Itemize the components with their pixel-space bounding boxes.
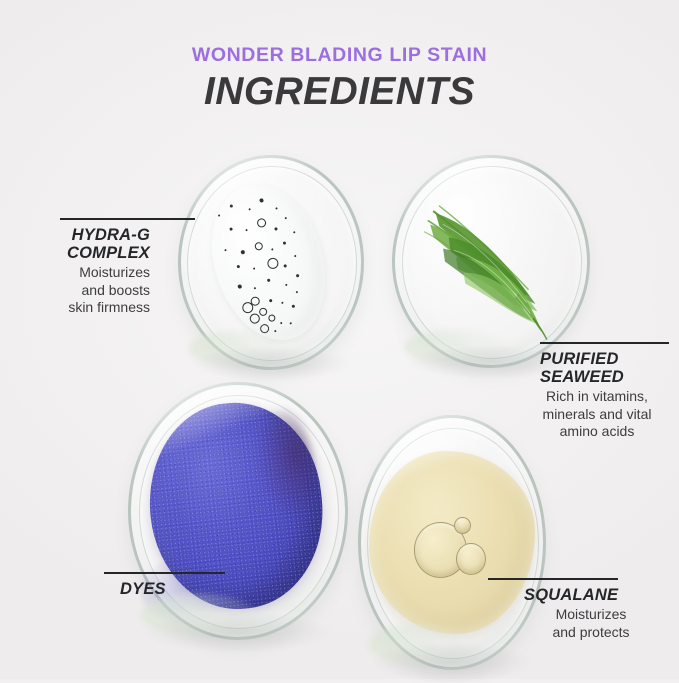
- oil-droplet-medium: [456, 543, 486, 576]
- leader-line-squalane: [488, 578, 618, 580]
- label-title-line2: COMPLEX: [67, 244, 150, 262]
- label-title-line1: SQUALANE: [524, 586, 618, 604]
- label-desc-squalane: Moisturizes and protects: [510, 606, 672, 641]
- label-desc-line2: and protects: [552, 624, 629, 640]
- label-title-hydra-g: HYDRA-G COMPLEX: [10, 226, 150, 263]
- label-title-line1: HYDRA-G: [72, 226, 150, 244]
- label-desc-line3: amino acids: [560, 423, 635, 439]
- label-title-dyes: DYES: [120, 580, 280, 598]
- seaweed-sample: [408, 176, 574, 351]
- label-title-squalane: SQUALANE: [524, 586, 674, 604]
- product-name-eyebrow: WONDER BLADING LIP STAIN: [0, 44, 679, 67]
- leader-line-hydra-g: [60, 218, 195, 220]
- petri-dish-dyes: [128, 382, 348, 640]
- label-desc-line1: Moisturizes: [556, 606, 627, 622]
- petri-dish-hydra-g-complex: [178, 155, 364, 370]
- petri-dish-purified-seaweed: [392, 155, 590, 368]
- page-title: INGREDIENTS: [0, 70, 679, 114]
- label-desc-line1: Rich in vitamins,: [546, 388, 648, 404]
- label-title-line2: SEAWEED: [540, 368, 624, 386]
- label-title-line1: PURIFIED: [540, 350, 619, 368]
- leader-line-dyes: [104, 572, 225, 574]
- label-title-seaweed: PURIFIED SEAWEED: [540, 350, 679, 387]
- label-desc-seaweed: Rich in vitamins, minerals and vital ami…: [518, 388, 676, 441]
- label-desc-line1: Moisturizes: [79, 264, 150, 280]
- label-desc-line2: and boosts: [82, 282, 151, 298]
- label-desc-hydra-g: Moisturizes and boosts skin firmness: [8, 264, 150, 317]
- label-desc-line2: minerals and vital: [543, 406, 652, 422]
- label-title-line1: DYES: [120, 580, 166, 598]
- infographic-canvas: WONDER BLADING LIP STAIN INGREDIENTS: [0, 0, 679, 679]
- label-desc-line3: skin firmness: [68, 299, 150, 315]
- leader-line-seaweed: [540, 342, 669, 344]
- oil-droplet-small: [454, 517, 471, 534]
